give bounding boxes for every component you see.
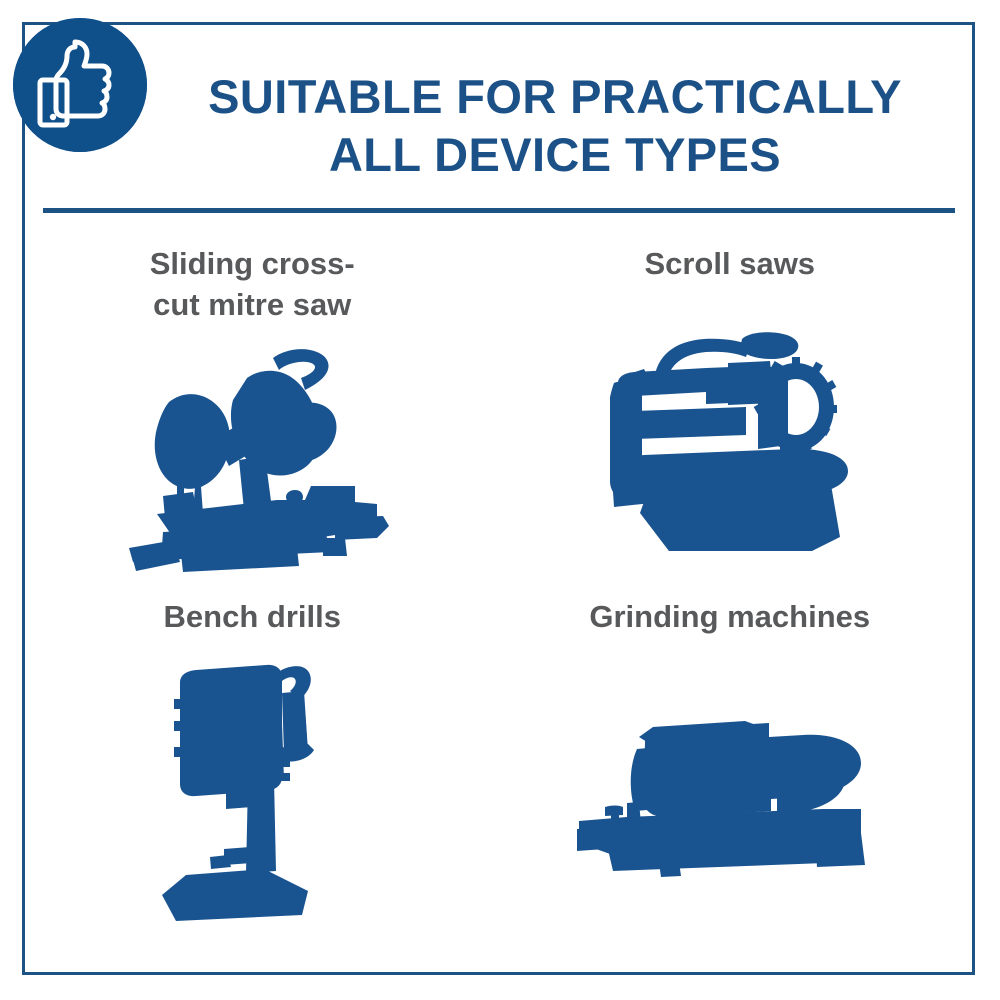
bench-drill-silhouette-icon [162,663,362,923]
device-label-scroll-saw: Scroll saws [644,243,815,284]
title-line-2: ALL DEVICE TYPES [160,126,950,184]
device-label-bench-drill: Bench drills [164,596,341,637]
device-art-mitre-saw [26,325,499,588]
scroll-saw-silhouette-icon [610,321,860,551]
thumbs-up-icon [13,18,147,152]
thumbs-up-badge [13,18,147,152]
device-label-grinding-machine: Grinding machines [589,596,870,637]
device-cell-mitre-saw: Sliding cross- cut mitre saw [26,228,499,588]
device-label-line-1: Sliding cross- [150,243,355,284]
device-cell-scroll-saw: Scroll saws [499,228,972,588]
device-art-bench-drill [26,637,499,948]
device-cell-grinding-machine: Grinding machines [499,588,972,948]
device-label-line-2: cut mitre saw [150,284,355,325]
device-grid: Sliding cross- cut mitre saw [26,228,971,972]
device-cell-bench-drill: Bench drills [26,588,499,948]
title-divider [43,208,955,213]
device-label-line-1: Grinding machines [589,596,870,637]
mitre-saw-silhouette-icon [127,342,397,572]
device-art-scroll-saw [499,284,972,588]
device-label-mitre-saw: Sliding cross- cut mitre saw [150,243,355,325]
device-label-line-1: Bench drills [164,596,341,637]
page-title: SUITABLE FOR PRACTICALLY ALL DEVICE TYPE… [160,68,950,184]
infographic-card: SUITABLE FOR PRACTICALLY ALL DEVICE TYPE… [0,0,1000,1000]
grinding-machine-silhouette-icon [575,703,895,883]
title-line-1: SUITABLE FOR PRACTICALLY [160,68,950,126]
device-art-grinding-machine [499,637,972,948]
device-label-line-1: Scroll saws [644,243,815,284]
